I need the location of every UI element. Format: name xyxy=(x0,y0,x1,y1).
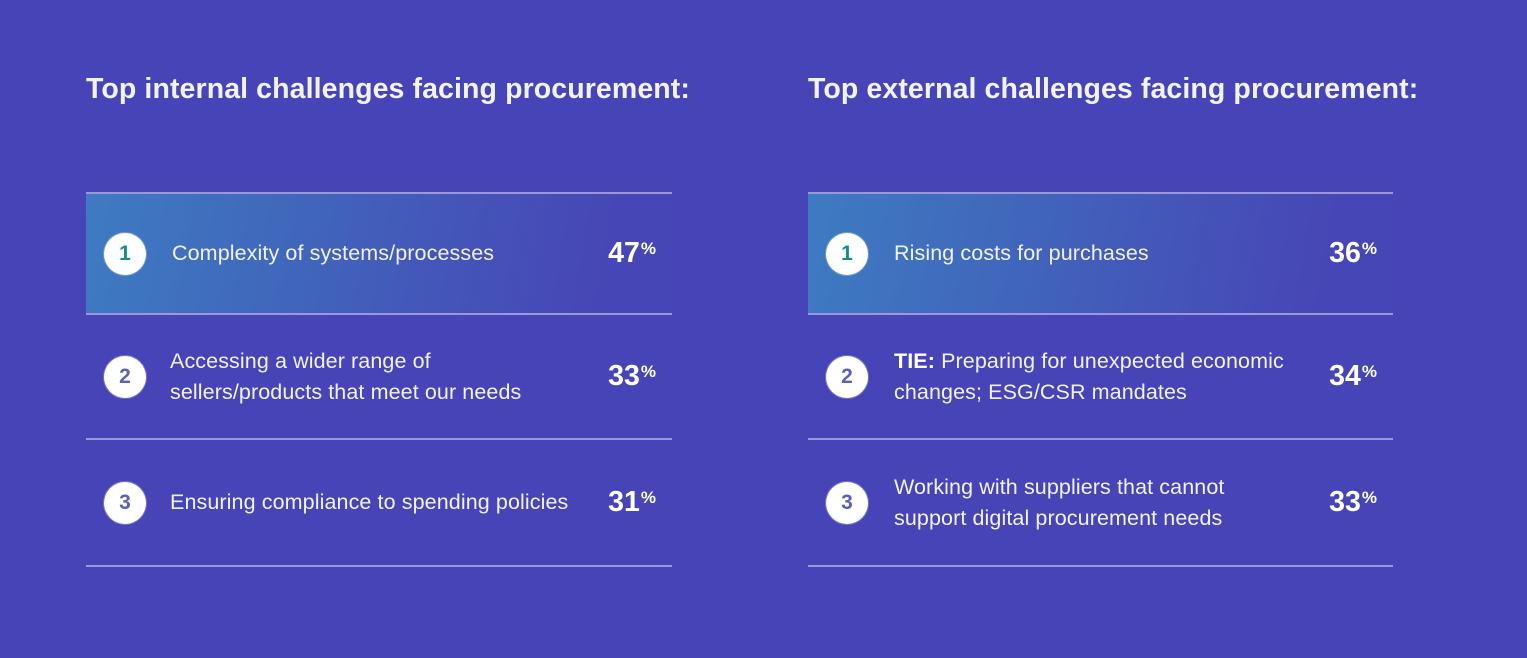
list-item[interactable]: 1 Rising costs for purchases 36% xyxy=(808,194,1393,313)
rank-badge-number: 2 xyxy=(119,366,131,387)
list-item-label-prefix: TIE: xyxy=(894,349,941,373)
list-item-value-number: 31 xyxy=(608,488,640,517)
rank-badge-number: 3 xyxy=(841,492,853,513)
rank-badge: 3 xyxy=(826,482,868,524)
list-item-value-number: 33 xyxy=(1329,488,1361,517)
list-item-label: Complexity of systems/processes xyxy=(172,238,576,269)
list-item-value-number: 36 xyxy=(1329,239,1361,268)
internal-column-title: Top internal challenges facing procureme… xyxy=(86,73,690,106)
list-item-label: Accessing a wider range of sellers/produ… xyxy=(170,346,576,407)
list-item-label-text: Ensuring compliance to spending policies xyxy=(170,490,568,514)
internal-challenges-column: Top internal challenges facing procureme… xyxy=(86,0,672,658)
rank-badge: 1 xyxy=(826,233,868,275)
rank-badge: 2 xyxy=(104,356,146,398)
list-divider-bottom xyxy=(808,565,1393,567)
percent-sign: % xyxy=(641,240,656,257)
external-challenges-list: 1 Rising costs for purchases 36% 2 TIE: … xyxy=(808,192,1393,567)
list-item[interactable]: 1 Complexity of systems/processes 47% xyxy=(86,194,672,313)
rank-badge: 2 xyxy=(826,356,868,398)
list-item[interactable]: 3 Working with suppliers that cannot sup… xyxy=(808,440,1393,565)
list-item-label-text: Accessing a wider range of sellers/produ… xyxy=(170,349,521,404)
external-column-title: Top external challenges facing procureme… xyxy=(808,73,1418,106)
list-item-label-text: Rising costs for purchases xyxy=(894,241,1149,265)
list-item-value: 33% xyxy=(588,362,656,391)
rank-badge-number: 1 xyxy=(119,243,131,264)
list-item-value-number: 47 xyxy=(608,239,640,268)
rank-badge: 1 xyxy=(104,233,146,275)
list-item-label-text: Preparing for unexpected economic change… xyxy=(894,349,1284,404)
rank-badge: 3 xyxy=(104,482,146,524)
list-item-label: Rising costs for purchases xyxy=(894,238,1293,269)
list-item-value: 36% xyxy=(1305,239,1377,268)
list-item-label-text: Working with suppliers that cannot suppo… xyxy=(894,475,1224,530)
list-item-value: 34% xyxy=(1305,362,1377,391)
external-challenges-column: Top external challenges facing procureme… xyxy=(808,0,1393,658)
rank-badge-number: 1 xyxy=(841,243,853,264)
percent-sign: % xyxy=(1362,489,1377,506)
list-item[interactable]: 2 Accessing a wider range of sellers/pro… xyxy=(86,315,672,438)
list-item-label: TIE: Preparing for unexpected economic c… xyxy=(894,346,1293,407)
list-item-value-number: 34 xyxy=(1329,362,1361,391)
rank-badge-number: 3 xyxy=(119,492,131,513)
percent-sign: % xyxy=(641,363,656,380)
list-divider-bottom xyxy=(86,565,672,567)
list-item-value-number: 33 xyxy=(608,362,640,391)
percent-sign: % xyxy=(1362,363,1377,380)
list-item-value: 47% xyxy=(588,239,656,268)
list-item[interactable]: 3 Ensuring compliance to spending polici… xyxy=(86,440,672,565)
list-item-value: 31% xyxy=(588,488,656,517)
challenges-board: Top internal challenges facing procureme… xyxy=(0,0,1527,658)
list-item[interactable]: 2 TIE: Preparing for unexpected economic… xyxy=(808,315,1393,438)
list-item-label: Working with suppliers that cannot suppo… xyxy=(894,472,1293,533)
percent-sign: % xyxy=(641,489,656,506)
percent-sign: % xyxy=(1362,240,1377,257)
rank-badge-number: 2 xyxy=(841,366,853,387)
list-item-label: Ensuring compliance to spending policies xyxy=(170,487,576,518)
internal-challenges-list: 1 Complexity of systems/processes 47% 2 … xyxy=(86,192,672,567)
list-item-label-text: Complexity of systems/processes xyxy=(172,241,494,265)
list-item-value: 33% xyxy=(1305,488,1377,517)
